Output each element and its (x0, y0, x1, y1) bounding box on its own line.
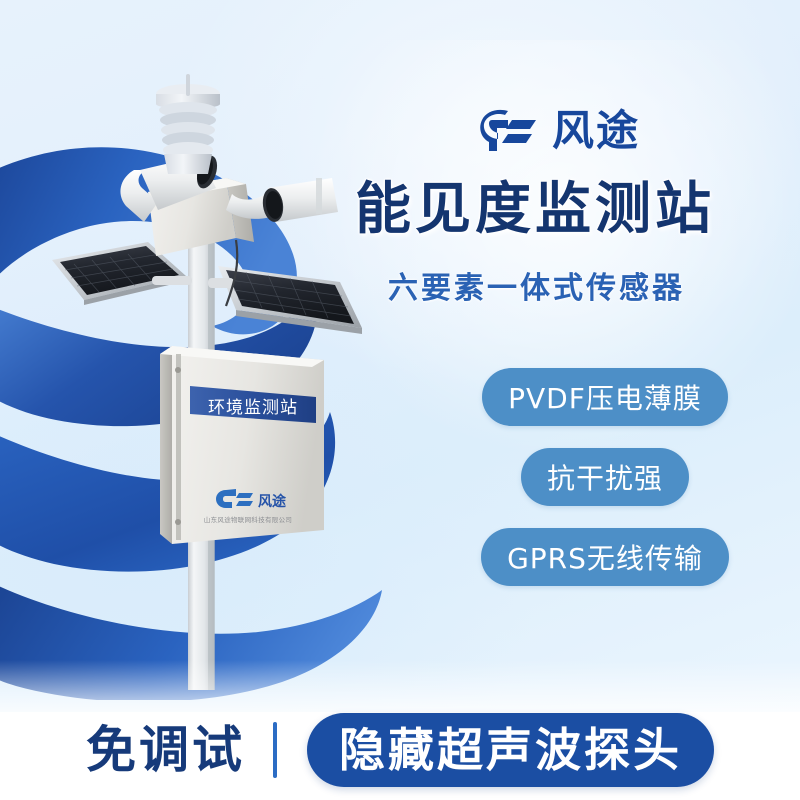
banner-divider (273, 722, 277, 778)
enclosure-company-text: 山东风途物联网科技有限公司 (204, 515, 292, 524)
banner-highlight-pill: 隐藏超声波探头 (307, 713, 714, 787)
brand-name: 风途 (552, 110, 640, 152)
page-title: 能见度监测站 (355, 180, 795, 240)
solar-panel-right (208, 266, 362, 334)
ultrasonic-wind-sensor (156, 74, 220, 174)
bottom-banner: 免调试 隐藏超声波探头 (0, 700, 800, 800)
banner-left-label: 免调试 (86, 725, 273, 775)
feature-pill-1: PVDF压电薄膜 (482, 368, 728, 426)
fengtu-cloud-logo-icon (478, 108, 540, 154)
page-subtitle: 六要素一体式传感器 (388, 272, 800, 305)
enclosure-brand-text: 风途 (258, 493, 287, 510)
control-enclosure: 环境监测站 风途 山东风途物联网科技有限公司 (160, 346, 324, 544)
feature-pill-3: GPRS无线传输 (481, 528, 729, 586)
enclosure-label-text: 环境监测站 (208, 398, 298, 418)
feature-pill-list: PVDF压电薄膜 抗干扰强 GPRS无线传输 (455, 368, 755, 586)
promo-poster: 环境监测站 风途 山东风途物联网科技有限公司 风途 (0, 0, 800, 800)
feature-pill-2: 抗干扰强 (521, 448, 689, 506)
product-photo-weather-station: 环境监测站 风途 山东风途物联网科技有限公司 (40, 70, 400, 690)
brand-logo: 风途 (478, 100, 778, 162)
